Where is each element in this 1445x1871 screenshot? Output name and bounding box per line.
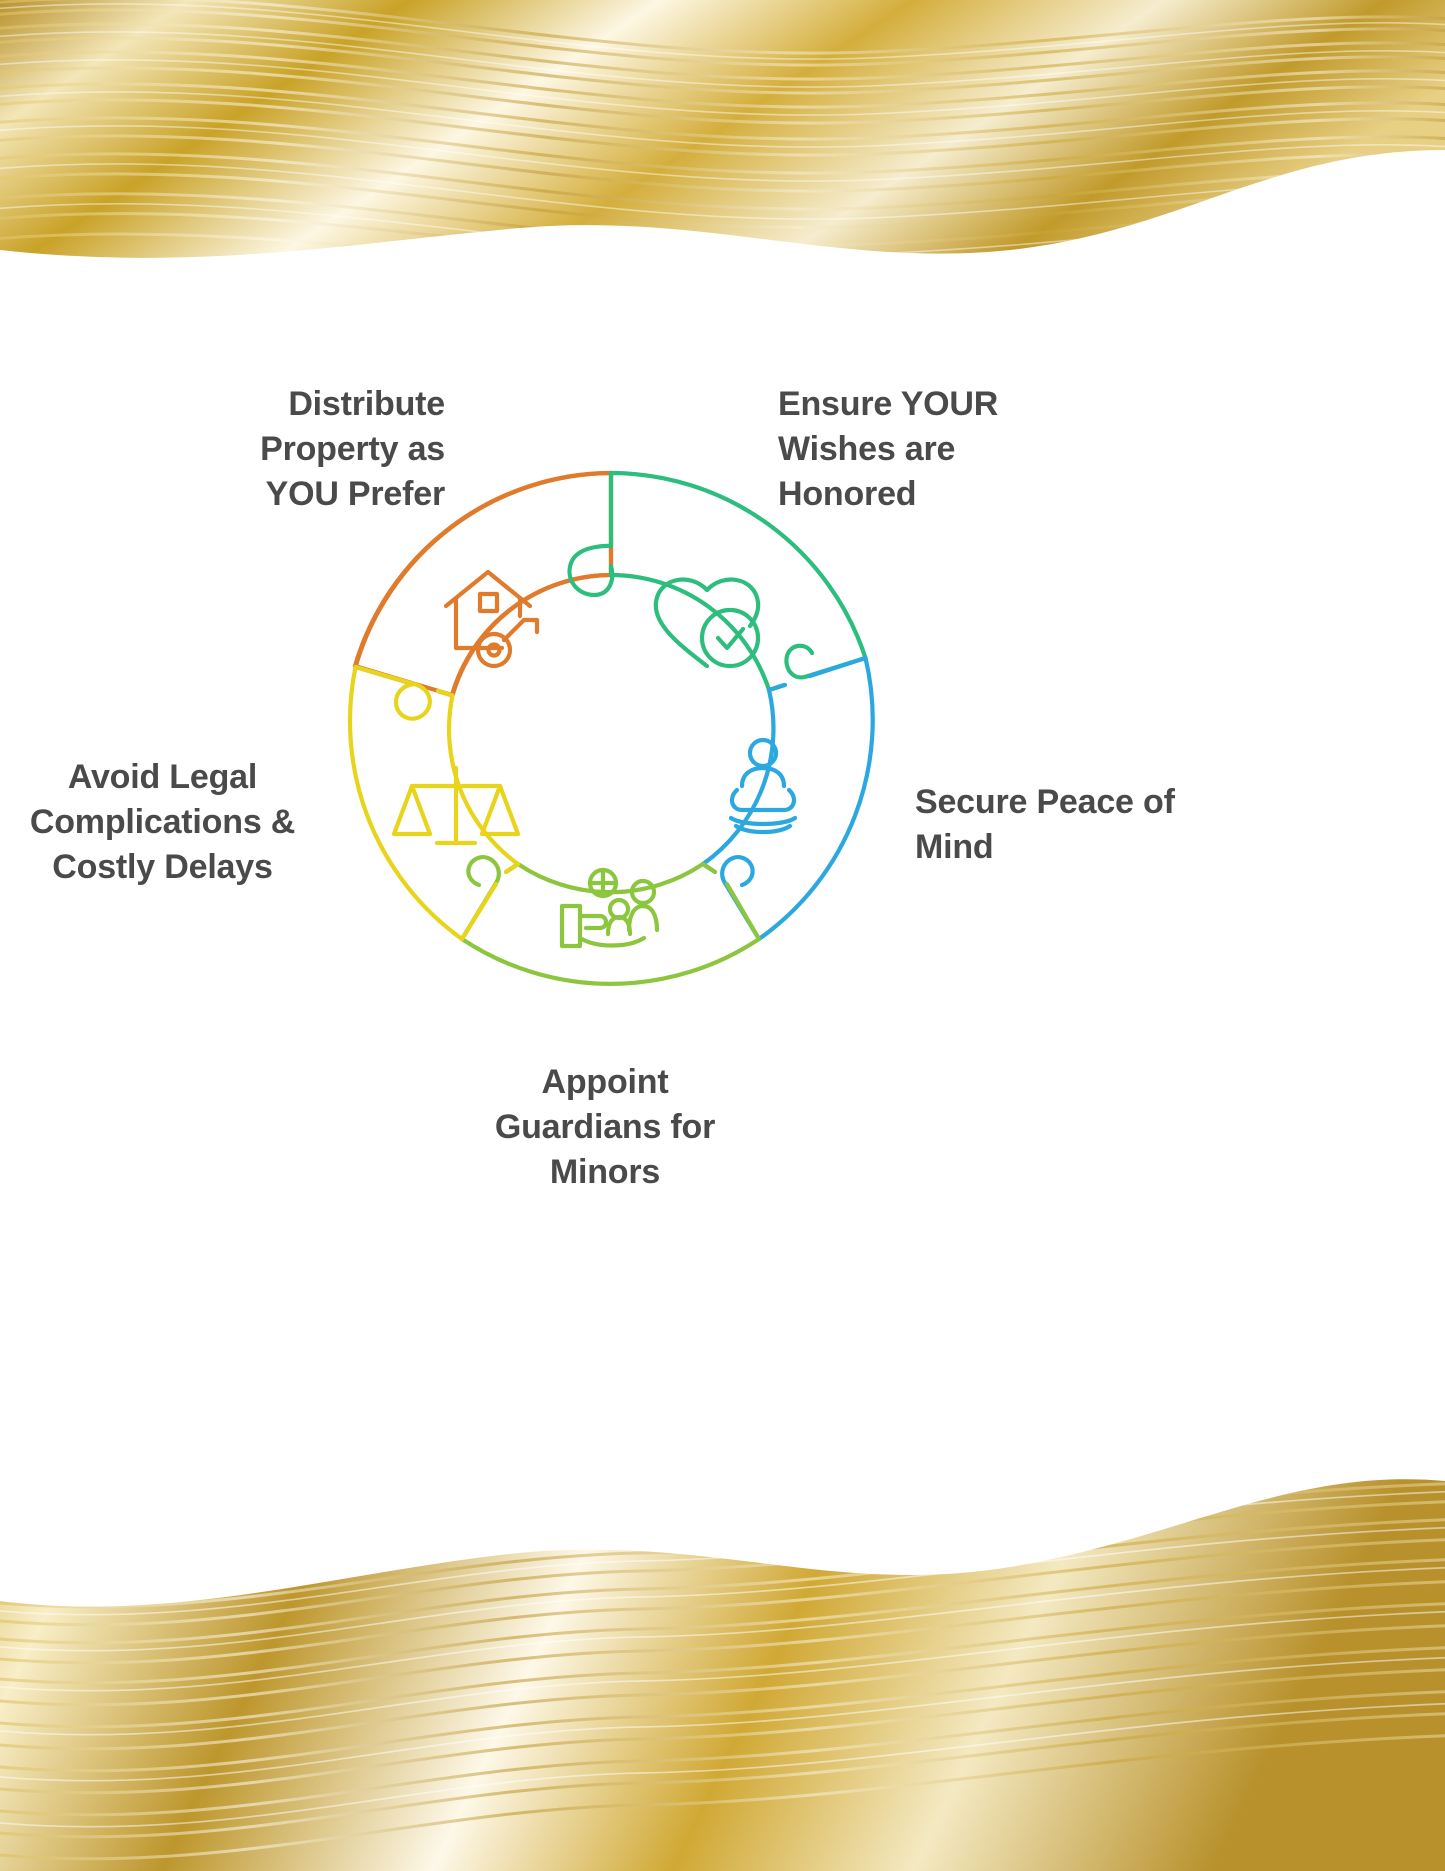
gold-wave-bottom: [0, 1271, 1445, 1871]
label-avoid-legal-complications: Avoid Legal Complications & Costly Delay…: [20, 755, 305, 891]
label-line: Mind: [915, 825, 1205, 870]
label-line: Complications &: [20, 800, 305, 845]
segment-avoid-legal-complications[interactable]: [350, 667, 518, 939]
family-hand-icon: [562, 870, 657, 946]
scales-of-justice-icon: [394, 768, 518, 843]
label-line: Wishes are: [778, 427, 1028, 472]
segment-ensure-wishes[interactable]: [570, 473, 866, 690]
label-line: Costly Delays: [20, 845, 305, 890]
label-line: Property as: [205, 427, 445, 472]
segment-appoint-guardians[interactable]: [462, 857, 759, 984]
puzzle-ring-diagram: [338, 468, 884, 1014]
label-line: Secure Peace of: [915, 780, 1205, 825]
segment-secure-peace-of-mind[interactable]: [703, 658, 873, 939]
label-line: Guardians for: [450, 1105, 760, 1150]
label-secure-peace-of-mind: Secure Peace of Mind: [915, 780, 1205, 870]
label-line: Appoint: [450, 1060, 760, 1105]
label-line: Minors: [450, 1150, 760, 1195]
gold-wave-top: [0, 0, 1445, 290]
heart-check-icon: [656, 580, 758, 666]
label-line: Ensure YOUR: [778, 382, 1028, 427]
label-line: Avoid Legal: [20, 755, 305, 800]
label-appoint-guardians: Appoint Guardians for Minors: [450, 1060, 760, 1196]
label-line: Distribute: [205, 382, 445, 427]
infographic-stage: Distribute Property as YOU Prefer Ensure…: [0, 290, 1445, 1290]
